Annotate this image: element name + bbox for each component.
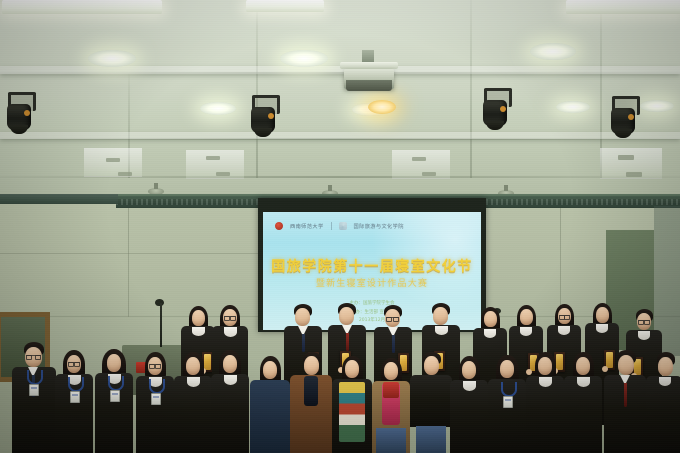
person-front-5	[174, 352, 212, 453]
id-badge	[110, 390, 120, 402]
downlight-3	[530, 43, 576, 60]
downlight-4	[200, 102, 236, 115]
necktie	[624, 383, 627, 407]
glasses-icon	[224, 316, 236, 320]
id-badge	[29, 384, 39, 396]
red-scarf	[383, 382, 399, 398]
person-front-17	[646, 352, 680, 453]
person-front-7	[250, 356, 290, 453]
slide-subtitle: 暨新生寝室设计作品大赛	[263, 276, 481, 289]
stage-spotlight-center-left	[250, 95, 278, 139]
person-front-2	[54, 350, 94, 453]
downlight-6	[556, 101, 590, 113]
stage-spotlight-right	[482, 88, 510, 132]
wall-shadow-left	[0, 194, 118, 204]
person-front-6	[210, 350, 250, 453]
downlight-2	[280, 50, 328, 67]
glasses-icon	[149, 364, 161, 368]
necktie	[392, 335, 395, 353]
glasses-icon	[68, 362, 80, 366]
multicolor-scarf	[339, 382, 365, 442]
stage-spotlight-left	[6, 92, 34, 136]
college-logo-text: 国际旅游与文化学院	[354, 223, 404, 230]
slide-title: 国旅学院第十一届寝室文化节	[263, 256, 481, 276]
university-seal-icon	[275, 222, 283, 230]
person-front-4	[136, 352, 174, 453]
person-front-10	[372, 358, 410, 453]
person-front-9	[332, 356, 372, 453]
university-logo-text: 西南师范大学	[290, 223, 324, 230]
downlight-7	[640, 100, 674, 112]
person-front-13	[488, 355, 526, 453]
id-badge	[151, 393, 161, 405]
ceiling-troffer-right	[566, 0, 680, 14]
ceiling-troffer-mid	[246, 0, 324, 12]
person-front-15	[564, 352, 602, 453]
microphone-left-stand	[160, 303, 162, 347]
logo-divider	[331, 222, 332, 230]
college-emblem-icon	[339, 222, 347, 230]
ceiling-troffer-left	[2, 0, 162, 14]
necktie	[302, 334, 305, 352]
lanyard	[501, 382, 517, 397]
necktie	[346, 333, 349, 351]
lanyard	[108, 376, 124, 391]
person-front-16	[604, 350, 646, 453]
lanyard	[149, 379, 165, 394]
glasses-icon	[26, 355, 41, 359]
photograph-canvas: 西南师范大学 国际旅游与文化学院 国旅学院第十一届寝室文化节 暨新生寝室设计作品…	[0, 0, 680, 453]
glasses-icon	[638, 320, 650, 324]
person-front-11	[410, 352, 452, 453]
ceiling	[0, 0, 680, 200]
lanyard	[27, 370, 43, 385]
person-front-12	[450, 356, 488, 453]
downlight-1	[88, 50, 136, 67]
person-front-1	[12, 342, 56, 453]
stage-spotlight-far-right	[610, 96, 638, 140]
ceiling-projector	[340, 62, 398, 92]
id-badge	[70, 391, 80, 403]
slide-logo-row: 西南师范大学 国际旅游与文化学院	[275, 220, 469, 232]
lanyard	[68, 377, 84, 392]
glasses-icon	[386, 317, 399, 321]
glasses-icon	[559, 315, 570, 319]
id-badge	[503, 396, 513, 408]
person-front-8	[290, 352, 332, 453]
projector-lamp-glow	[368, 100, 396, 114]
person-front-3	[94, 349, 134, 453]
person-front-14	[526, 352, 564, 453]
